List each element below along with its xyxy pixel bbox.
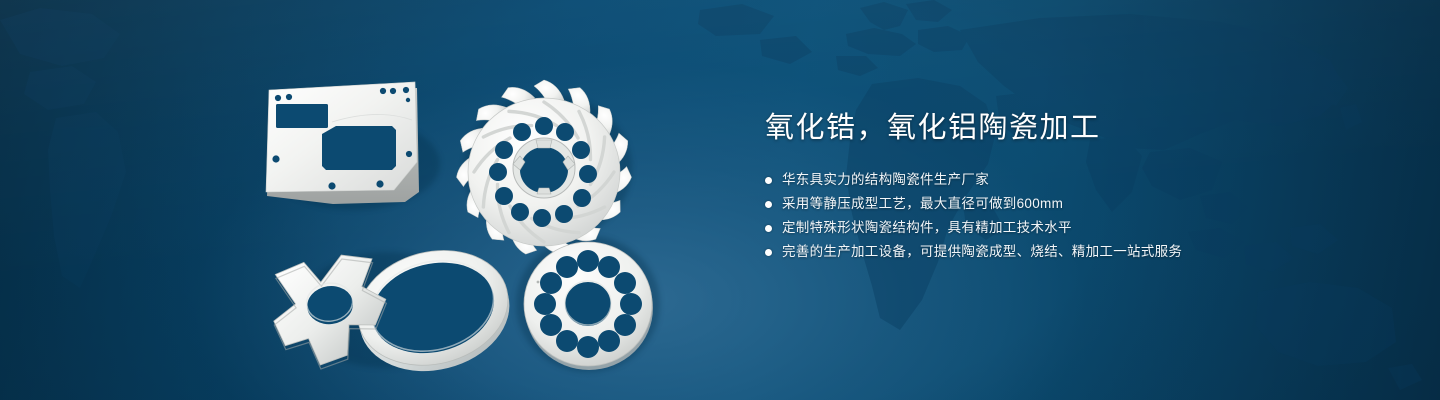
feature-list: 华东具实力的结构陶瓷件生产厂家 采用等静压成型工艺，最大直径可做到600mm 定… xyxy=(765,168,1365,264)
list-item-label: 采用等静压成型工艺，最大直径可做到600mm xyxy=(782,192,1063,216)
bullet-dot-icon xyxy=(765,249,772,256)
bullet-dot-icon xyxy=(765,177,772,184)
list-item: 采用等静压成型工艺，最大直径可做到600mm xyxy=(765,192,1365,216)
hero-banner: 氧化锆，氧化铝陶瓷加工 华东具实力的结构陶瓷件生产厂家 采用等静压成型工艺，最大… xyxy=(0,0,1440,400)
list-item-label: 定制特殊形状陶瓷结构件，具有精加工技术水平 xyxy=(782,216,1072,240)
page-title: 氧化锆，氧化铝陶瓷加工 xyxy=(765,108,1365,148)
ceramic-plate-with-cutouts xyxy=(266,82,419,204)
list-item-label: 华东具实力的结构陶瓷件生产厂家 xyxy=(782,168,989,192)
list-item: 华东具实力的结构陶瓷件生产厂家 xyxy=(765,168,1365,192)
bullet-dot-icon xyxy=(765,201,772,208)
bullet-dot-icon xyxy=(765,225,772,232)
list-item-label: 完善的生产加工设备，可提供陶瓷成型、烧结、精加工一站式服务 xyxy=(782,240,1182,264)
list-item: 定制特殊形状陶瓷结构件，具有精加工技术水平 xyxy=(765,216,1365,240)
ceramic-perforated-ring-disc xyxy=(524,242,653,370)
ceramic-products-photo xyxy=(236,42,688,386)
banner-copy: 氧化锆，氧化铝陶瓷加工 华东具实力的结构陶瓷件生产厂家 采用等静压成型工艺，最大… xyxy=(765,108,1365,264)
ceramic-impeller-vaned-disc xyxy=(454,79,633,258)
list-item: 完善的生产加工设备，可提供陶瓷成型、烧结、精加工一站式服务 xyxy=(765,240,1365,264)
